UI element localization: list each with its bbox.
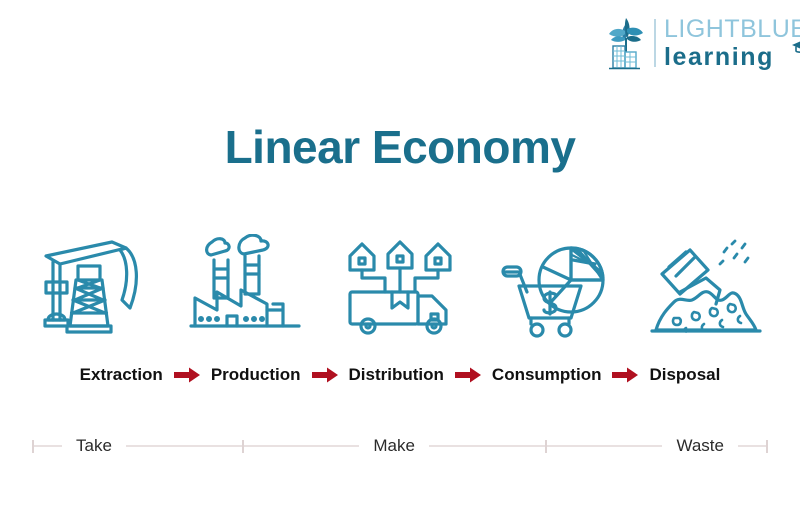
- axis-segment: [429, 445, 545, 447]
- stage-label-distribution: Distribution: [349, 365, 444, 385]
- stage-label-consumption: Consumption: [492, 365, 602, 385]
- logo-divider: [654, 19, 656, 67]
- axis-segment: [244, 445, 360, 447]
- oil-pump-jack-icon: [24, 230, 164, 348]
- stage-label-extraction: Extraction: [80, 365, 163, 385]
- logo-word-lightblue: LIGHTBLUE: [664, 17, 800, 42]
- phase-axis: Take Make Waste: [32, 432, 768, 460]
- stage-label-production: Production: [211, 365, 301, 385]
- arrow-right-icon: [455, 367, 481, 383]
- stage-label-disposal: Disposal: [649, 365, 720, 385]
- arrow-right-icon: [312, 367, 338, 383]
- landfill-waste-icon: [636, 230, 776, 348]
- axis-segment: [126, 445, 242, 447]
- logo-word-learning-wrap: learning: [664, 45, 800, 70]
- logo-wordmark: LIGHTBLUE learning: [664, 17, 800, 70]
- logo-word-learning: learning: [664, 43, 774, 71]
- delivery-truck-icon: [330, 230, 470, 348]
- axis-label-take: Take: [62, 436, 126, 456]
- factory-icon: [177, 230, 317, 348]
- axis-label-make: Make: [359, 436, 429, 456]
- axis-segment: [738, 445, 766, 447]
- axis-segment: [547, 445, 663, 447]
- arrow-right-icon: [174, 367, 200, 383]
- shopping-cart-pie-chart-icon: [483, 230, 623, 348]
- stage-label-row: Extraction Production Distribution Consu…: [0, 362, 800, 388]
- arrow-right-icon: [612, 367, 638, 383]
- page-title: Linear Economy: [0, 120, 800, 174]
- brand-logo: LIGHTBLUE learning: [600, 12, 790, 74]
- graduation-cap-icon: [791, 40, 800, 56]
- stage-icon-row: [24, 228, 776, 348]
- axis-label-waste: Waste: [662, 436, 738, 456]
- axis-segment: [34, 445, 62, 447]
- plant-building-icon: [600, 14, 652, 72]
- axis-end-cap: [766, 440, 768, 453]
- slide-canvas: LIGHTBLUE learning Linear Economy: [0, 0, 800, 516]
